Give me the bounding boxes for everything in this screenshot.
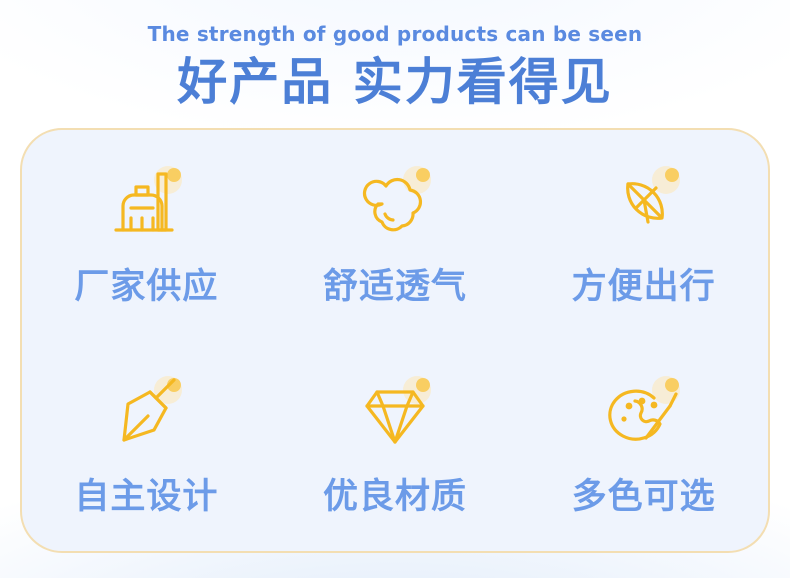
features-grid: 厂家供应 舒适透气 — [22, 130, 768, 551]
diamond-icon — [347, 372, 443, 458]
feature-label: 舒适透气 — [323, 258, 467, 309]
palette-icon — [596, 372, 692, 458]
feature-item: 自主设计 — [22, 372, 271, 519]
factory-icon — [98, 162, 194, 248]
leaf-icon — [596, 162, 692, 248]
feature-item: 厂家供应 — [22, 162, 271, 309]
promo-graphic: The strength of good products can be see… — [0, 0, 790, 578]
feature-label: 多色可选 — [572, 468, 716, 519]
feature-label: 优良材质 — [323, 468, 467, 519]
headline-chinese: 好产品 实力看得见 — [0, 46, 790, 109]
cloud-icon — [347, 162, 443, 248]
features-card: 厂家供应 舒适透气 — [20, 128, 770, 553]
feature-label: 厂家供应 — [74, 258, 218, 309]
feature-item: 舒适透气 — [271, 162, 520, 309]
header: The strength of good products can be see… — [0, 0, 790, 109]
subtitle-english: The strength of good products can be see… — [0, 0, 790, 46]
feature-item: 方便出行 — [519, 162, 768, 309]
feature-item: 多色可选 — [519, 372, 768, 519]
pen-nib-icon — [98, 372, 194, 458]
feature-label: 自主设计 — [74, 468, 218, 519]
feature-item: 优良材质 — [271, 372, 520, 519]
feature-label: 方便出行 — [572, 258, 716, 309]
